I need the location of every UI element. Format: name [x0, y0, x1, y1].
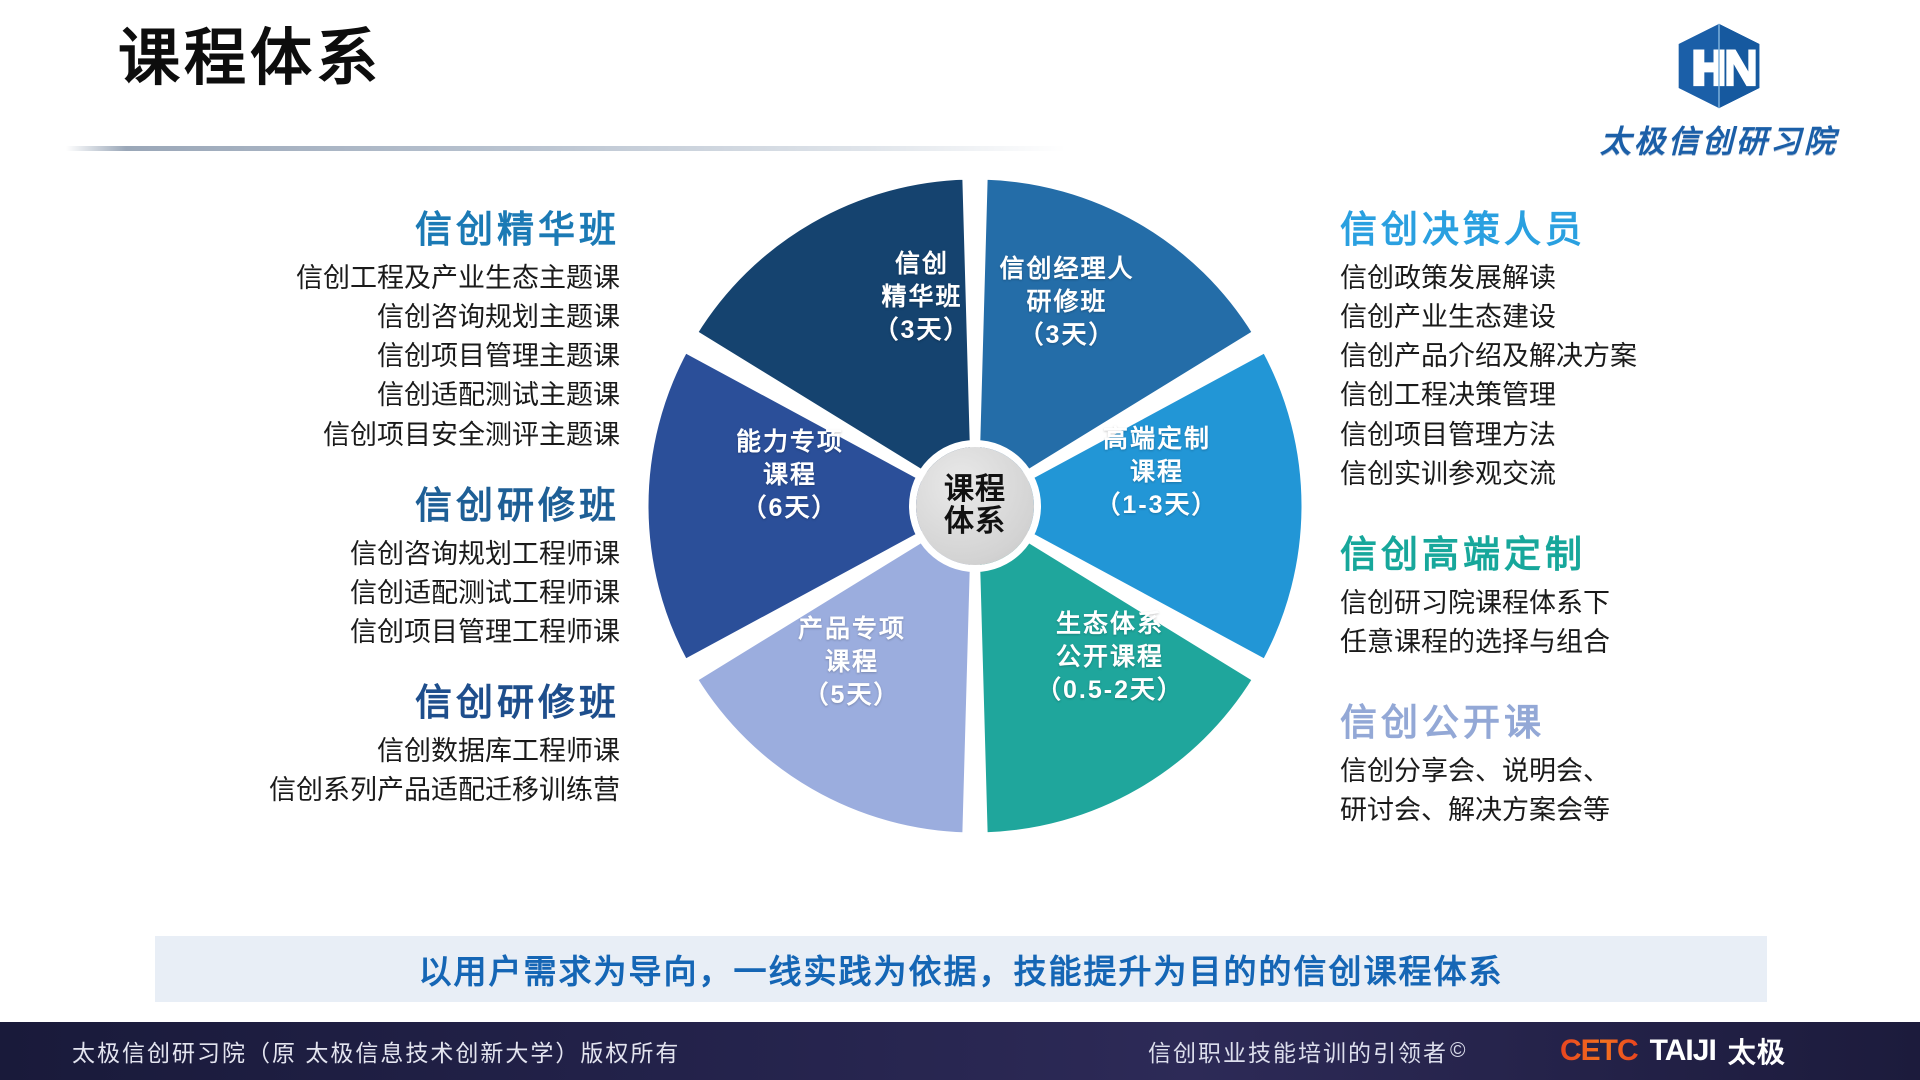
- taiji-wordmark: TAIJI: [1650, 1034, 1716, 1068]
- list-item: 信创咨询规划工程师课: [60, 535, 620, 574]
- copyright-symbol: ©: [1450, 1039, 1465, 1063]
- left-group-3-heading: 信创研修班: [60, 678, 620, 728]
- list-item: 信创工程决策管理: [1340, 376, 1900, 415]
- left-group-3: 信创研修班 信创数据库工程师课 信创系列产品适配迁移训练营: [60, 678, 620, 810]
- pie-center-label: 课程体系: [944, 474, 1006, 539]
- right-group-1-heading: 信创决策人员: [1340, 205, 1900, 255]
- left-group-3-list: 信创数据库工程师课 信创系列产品适配迁移训练营: [60, 732, 620, 810]
- list-item: 信创项目管理主题课: [60, 337, 620, 376]
- cetc-wordmark: CETC: [1560, 1034, 1638, 1068]
- left-group-2-list: 信创咨询规划工程师课 信创适配测试工程师课 信创项目管理工程师课: [60, 535, 620, 652]
- list-item: 信创适配测试工程师课: [60, 574, 620, 613]
- tagline-text: 以用户需求为导向，一线实践为依据，技能提升为目的的信创课程体系: [419, 945, 1504, 993]
- right-group-1-list: 信创政策发展解读 信创产业生态建设 信创产品介绍及解决方案 信创工程决策管理 信…: [1340, 259, 1900, 494]
- left-group-1: 信创精华班 信创工程及产业生态主题课 信创咨询规划主题课 信创项目管理主题课 信…: [60, 205, 620, 455]
- list-item: 信创工程及产业生态主题课: [60, 259, 620, 298]
- list-item: 信创分享会、说明会、: [1340, 752, 1900, 791]
- left-group-2: 信创研修班 信创咨询规划工程师课 信创适配测试工程师课 信创项目管理工程师课: [60, 481, 620, 652]
- list-item: 信创项目管理方法: [1340, 416, 1900, 455]
- taiji-wordmark-cn: 太极: [1728, 1031, 1786, 1071]
- tagline-banner: 以用户需求为导向，一线实践为依据，技能提升为目的的信创课程体系: [155, 936, 1767, 1002]
- left-column: 信创精华班 信创工程及产业生态主题课 信创咨询规划主题课 信创项目管理主题课 信…: [60, 205, 620, 816]
- list-item: 信创数据库工程师课: [60, 732, 620, 771]
- list-item: 信创实训参观交流: [1340, 455, 1900, 494]
- list-item: 信创项目管理工程师课: [60, 613, 620, 652]
- brand-name: 太极信创研习院: [1600, 116, 1838, 161]
- right-column: 信创决策人员 信创政策发展解读 信创产业生态建设 信创产品介绍及解决方案 信创工…: [1340, 205, 1900, 836]
- brand-block: 太极信创研习院: [1564, 22, 1874, 172]
- slide-root: 课程体系 太极信创研习院 信创精华班 信创工程及产业生态主题课 信创咨询规划主题…: [0, 0, 1920, 1080]
- list-item: 任意课程的选择与组合: [1340, 623, 1900, 662]
- title-divider: [66, 146, 1066, 151]
- list-item: 信创咨询规划主题课: [60, 298, 620, 337]
- pie-center-hub: 课程体系: [916, 447, 1034, 565]
- left-group-1-list: 信创工程及产业生态主题课 信创咨询规划主题课 信创项目管理主题课 信创适配测试主…: [60, 259, 620, 455]
- course-system-pie-chart: 信创 精华班 （3天） 信创经理人 研修班 （3天） 高端定制 课程 （1-3天…: [637, 168, 1313, 844]
- right-group-2-list: 信创研习院课程体系下 任意课程的选择与组合: [1340, 584, 1900, 662]
- list-item: 信创产品介绍及解决方案: [1340, 337, 1900, 376]
- list-item: 信创产业生态建设: [1340, 298, 1900, 337]
- left-group-2-heading: 信创研修班: [60, 481, 620, 531]
- right-group-2-heading: 信创高端定制: [1340, 530, 1900, 580]
- right-group-3-heading: 信创公开课: [1340, 698, 1900, 748]
- right-group-1: 信创决策人员 信创政策发展解读 信创产业生态建设 信创产品介绍及解决方案 信创工…: [1340, 205, 1900, 494]
- an-hexagon-logo-icon: [1673, 22, 1765, 110]
- left-group-1-heading: 信创精华班: [60, 205, 620, 255]
- page-title: 课程体系: [118, 28, 382, 90]
- list-item: 信创适配测试主题课: [60, 376, 620, 415]
- list-item: 信创项目安全测评主题课: [60, 416, 620, 455]
- right-group-3: 信创公开课 信创分享会、说明会、 研讨会、解决方案会等: [1340, 698, 1900, 830]
- right-group-2: 信创高端定制 信创研习院课程体系下 任意课程的选择与组合: [1340, 530, 1900, 662]
- list-item: 信创研习院课程体系下: [1340, 584, 1900, 623]
- right-group-3-list: 信创分享会、说明会、 研讨会、解决方案会等: [1340, 752, 1900, 830]
- list-item: 信创系列产品适配迁移训练营: [60, 771, 620, 810]
- footer-slogan: 信创职业技能培训的引领者: [1148, 1034, 1448, 1068]
- footer-copyright-text: 太极信创研习院（原 太极信息技术创新大学）版权所有: [72, 1034, 680, 1068]
- cetc-taiji-logo: CETC TAIJI 太极: [1560, 1031, 1786, 1071]
- list-item: 信创政策发展解读: [1340, 259, 1900, 298]
- list-item: 研讨会、解决方案会等: [1340, 791, 1900, 830]
- footer-bar: 太极信创研习院（原 太极信息技术创新大学）版权所有 信创职业技能培训的引领者 ©…: [0, 1022, 1920, 1080]
